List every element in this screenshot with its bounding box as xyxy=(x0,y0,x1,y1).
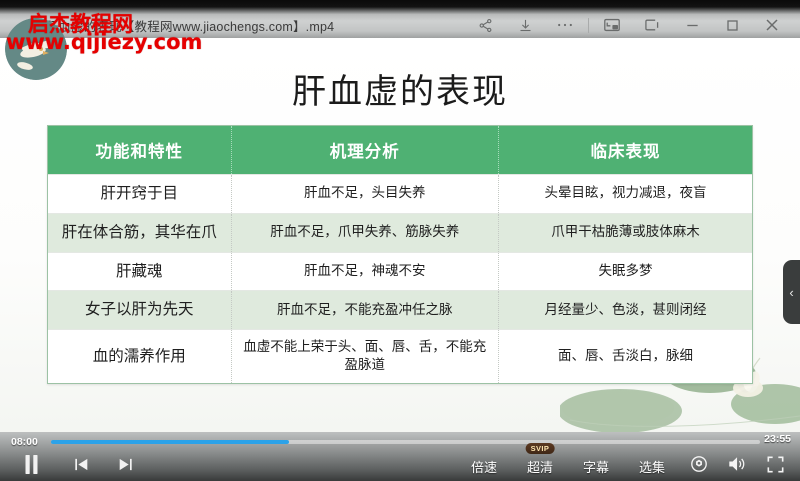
table-cell-function: 肝开窍于目 xyxy=(48,175,231,214)
progress-fill xyxy=(51,440,289,444)
chevron-left-icon: ‹ xyxy=(789,285,793,300)
share-button[interactable] xyxy=(465,12,505,38)
total-time: 23:55 xyxy=(764,433,791,445)
buttons-row: 倍速 SVIP 超清 字幕 选集 xyxy=(0,452,800,481)
episode-list-label: 选集 xyxy=(639,457,665,476)
table-cell-function: 血的濡养作用 xyxy=(48,330,231,383)
download-button[interactable] xyxy=(505,12,545,38)
settings-icon xyxy=(690,455,708,478)
next-episode-button[interactable] xyxy=(110,452,140,481)
table-header-cell-clinical: 临床表现 xyxy=(499,126,752,175)
minimize-icon xyxy=(685,18,700,33)
current-time: 08:00 xyxy=(11,436,47,448)
table-row: 血的濡养作用 血虚不能上荣于头、面、唇、舌，不能充盈脉道 面、唇、舌淡白，脉细 xyxy=(48,330,752,383)
picture-in-picture-button[interactable] xyxy=(592,12,632,38)
playback-speed-label: 倍速 xyxy=(471,457,497,476)
table-cell-mechanism: 肝血不足，神魂不安 xyxy=(231,252,499,291)
playback-speed-button[interactable]: 倍速 xyxy=(456,452,512,481)
table-cell-mechanism: 血虚不能上荣于头、面、唇、舌，不能充盈脉道 xyxy=(231,330,499,383)
svip-badge: SVIP xyxy=(526,443,555,454)
previous-episode-button[interactable] xyxy=(66,452,96,481)
previous-icon xyxy=(74,457,89,477)
progress-row: 08:00 23:55 xyxy=(0,432,800,452)
titlebar-actions xyxy=(465,12,800,38)
table-row: 女子以肝为先天 肝血不足，不能充盈冲任之脉 月经量少、色淡，甚则闭经 xyxy=(48,291,752,330)
maximize-icon xyxy=(725,18,740,33)
table-cell-clinical: 月经量少、色淡，甚则闭经 xyxy=(499,291,752,330)
maximize-button[interactable] xyxy=(712,12,752,38)
more-icon xyxy=(557,22,573,28)
video-player-window: 29. 肝血虚的表现【教程网www.jiaochengs.com】.mp4 xyxy=(0,0,800,481)
panel-collapse-tab[interactable]: ‹ xyxy=(783,260,800,324)
table-cell-function: 肝藏魂 xyxy=(48,252,231,291)
volume-button[interactable] xyxy=(718,452,756,481)
fullscreen-icon xyxy=(767,456,784,478)
table-cell-function: 肝在体合筋，其华在爪 xyxy=(48,213,231,252)
quality-button[interactable]: SVIP 超清 xyxy=(512,452,568,481)
table-header-cell-mechanism: 机理分析 xyxy=(231,126,499,175)
share-icon xyxy=(478,18,493,33)
table-header-row: 功能和特性 机理分析 临床表现 xyxy=(48,126,752,175)
next-icon xyxy=(118,457,133,477)
picture-in-picture-icon xyxy=(604,18,620,32)
settings-button[interactable] xyxy=(680,452,718,481)
close-icon xyxy=(764,17,780,33)
subtitles-label: 字幕 xyxy=(583,457,609,476)
table-cell-mechanism: 肝血不足，头目失养 xyxy=(231,175,499,214)
control-right-group: 倍速 SVIP 超清 字幕 选集 xyxy=(456,452,800,481)
more-options-button[interactable] xyxy=(545,12,585,38)
pause-icon xyxy=(24,455,39,479)
download-icon xyxy=(518,18,533,33)
close-button[interactable] xyxy=(752,12,792,38)
titlebar-divider xyxy=(588,18,589,33)
progress-slider[interactable] xyxy=(51,440,760,444)
table-cell-function: 女子以肝为先天 xyxy=(48,291,231,330)
volume-icon xyxy=(728,455,747,478)
sidebar-toggle-button[interactable] xyxy=(632,12,672,38)
episode-list-button[interactable]: 选集 xyxy=(624,452,680,481)
slide-title: 肝血虚的表现 xyxy=(0,64,800,113)
table-row: 肝藏魂 肝血不足，神魂不安 失眠多梦 xyxy=(48,252,752,291)
table-cell-mechanism: 肝血不足，爪甲失养、筋脉失养 xyxy=(231,213,499,252)
table-cell-clinical: 面、唇、舌淡白，脉细 xyxy=(499,330,752,383)
video-slide-area[interactable]: 肝血虚的表现 功能和特性 xyxy=(0,38,800,432)
table-row: 肝开窍于目 肝血不足，头目失养 头晕目眩，视力减退，夜盲 xyxy=(48,175,752,214)
table-header-cell-function: 功能和特性 xyxy=(48,126,231,175)
symptom-table: 功能和特性 机理分析 临床表现 肝开窍于目 肝血不足，头目失养 头晕目眩，视力减… xyxy=(47,125,753,384)
minimize-button[interactable] xyxy=(672,12,712,38)
table-cell-clinical: 失眠多梦 xyxy=(499,252,752,291)
watermark-site-url: www.qijiezy.com xyxy=(6,30,202,54)
table-cell-mechanism: 肝血不足，不能充盈冲任之脉 xyxy=(231,291,499,330)
table-cell-clinical: 头晕目眩，视力减退，夜盲 xyxy=(499,175,752,214)
table-row: 肝在体合筋，其华在爪 肝血不足，爪甲失养、筋脉失养 爪甲干枯脆薄或肢体麻木 xyxy=(48,213,752,252)
quality-label: 超清 xyxy=(527,457,553,476)
subtitles-button[interactable]: 字幕 xyxy=(568,452,624,481)
pause-button[interactable] xyxy=(14,452,48,481)
table-cell-clinical: 爪甲干枯脆薄或肢体麻木 xyxy=(499,213,752,252)
sidebar-toggle-icon xyxy=(644,18,660,32)
player-control-bar: 08:00 23:55 xyxy=(0,432,800,481)
fullscreen-button[interactable] xyxy=(756,452,794,481)
